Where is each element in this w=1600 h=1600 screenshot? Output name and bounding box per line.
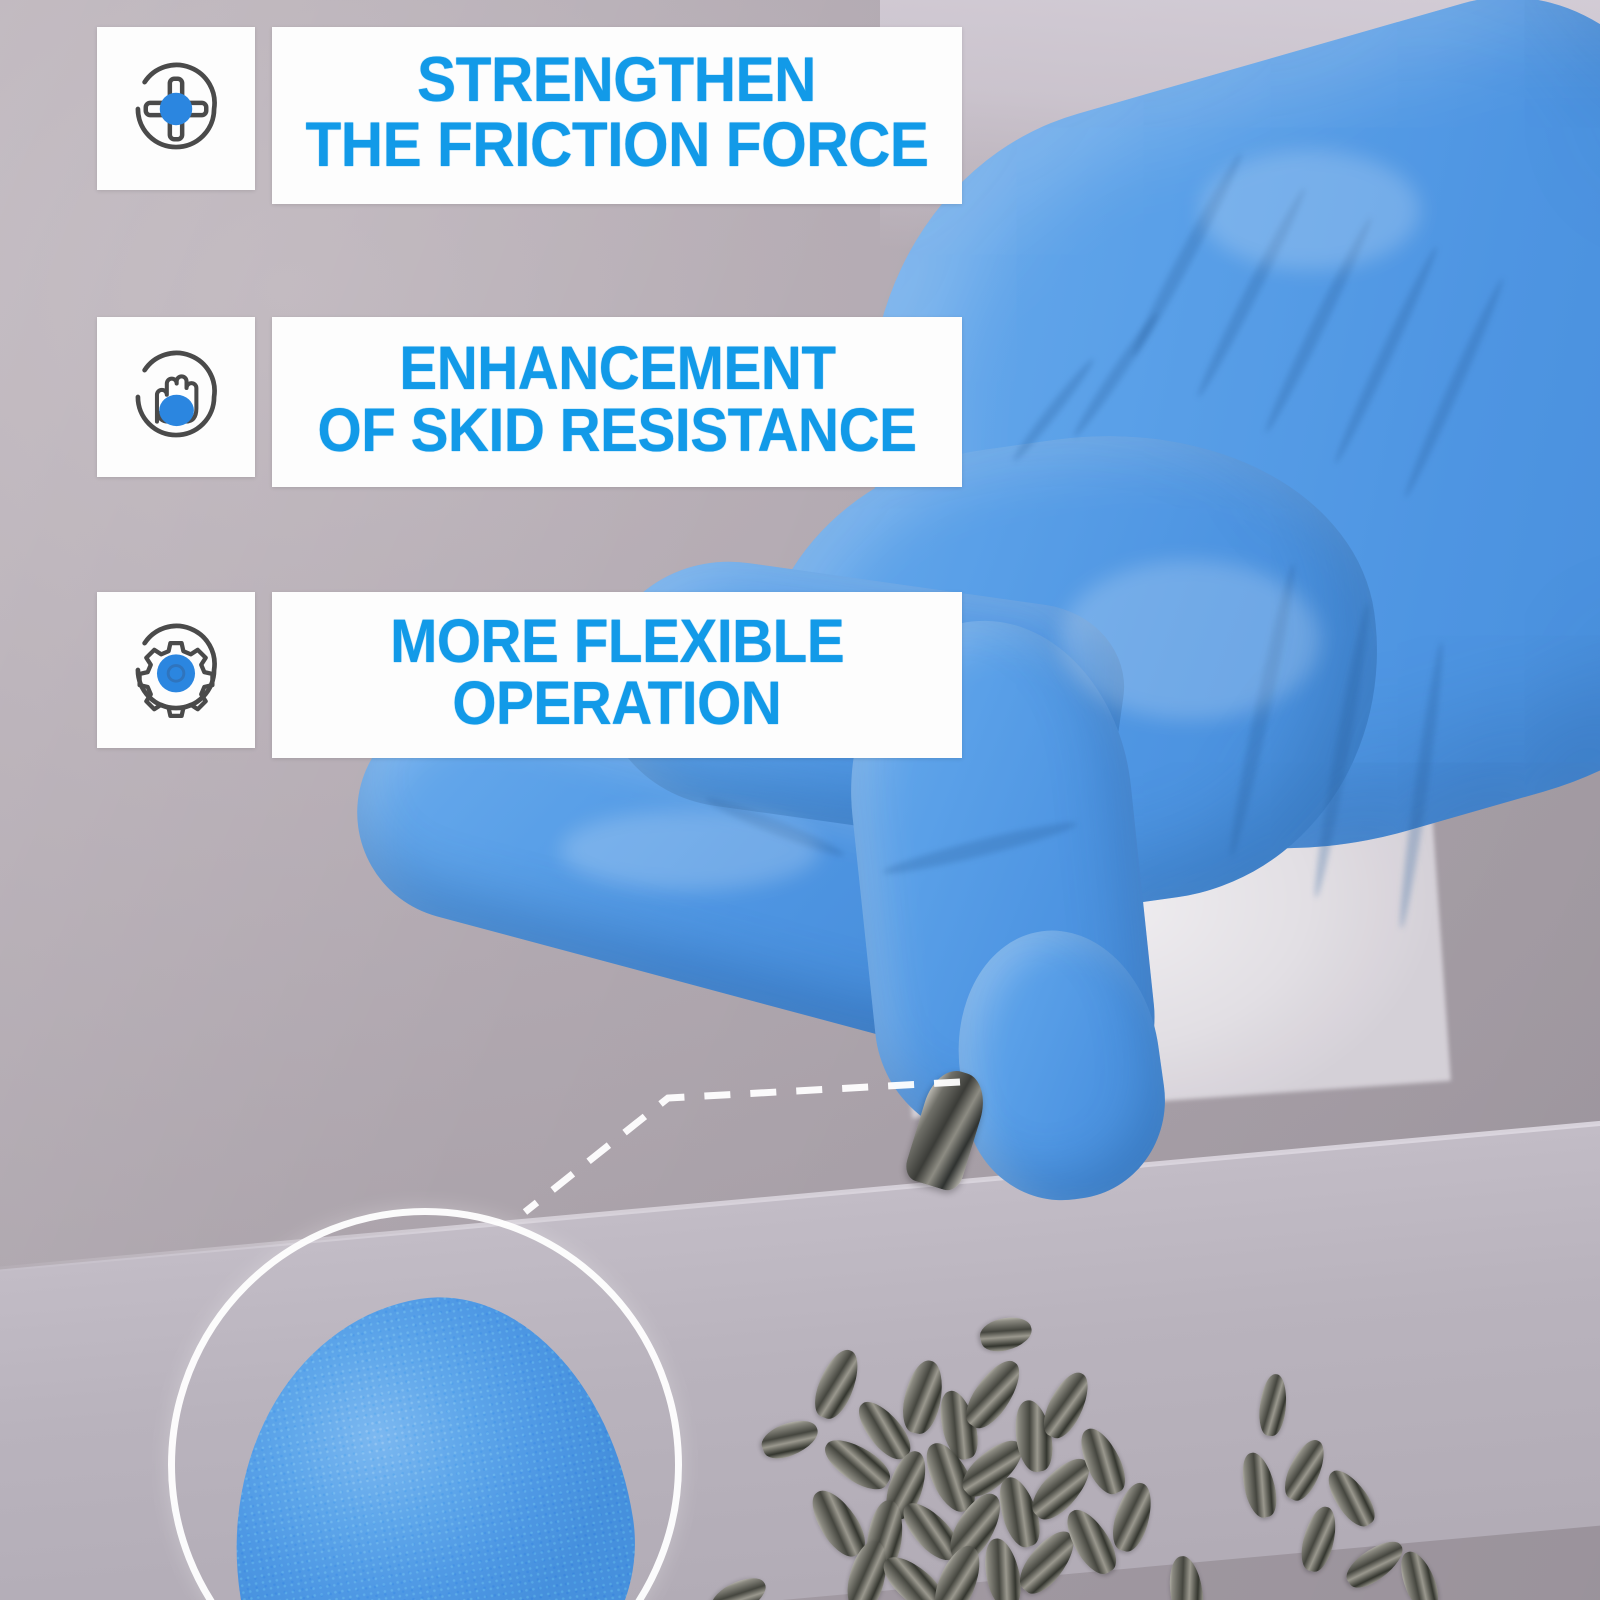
feature-3-line-1: MORE FLEXIBLE [390,610,844,672]
crosshair-grip-icon [120,53,232,165]
feature-1-text-box: STRENGTHEN THE FRICTION FORCE [272,27,962,204]
feature-3-text-box: MORE FLEXIBLE OPERATION [272,592,962,758]
open-hand-icon [120,341,232,453]
feature-1-icon-box [97,27,255,190]
feature-2-line-2: OF SKID RESISTANCE [318,399,917,461]
feature-2-line-1: ENHANCEMENT [399,337,835,399]
feature-2-text-box: ENHANCEMENT OF SKID RESISTANCE [272,317,962,487]
feature-3-line-2: OPERATION [453,672,782,734]
sunflower-seed-pile [700,1300,1600,1600]
product-feature-image: STRENGTHEN THE FRICTION FORCE ENHANCEMEN… [0,0,1600,1600]
feature-row-1: STRENGTHEN THE FRICTION FORCE [97,27,962,204]
feature-1-line-2: THE FRICTION FORCE [305,113,928,177]
feature-3-icon-box [97,592,255,748]
dashed-leader-line [525,1082,960,1212]
feature-2-icon-box [97,317,255,477]
feature-row-3: MORE FLEXIBLE OPERATION [97,592,962,758]
gear-icon [120,614,232,726]
feature-row-2: ENHANCEMENT OF SKID RESISTANCE [97,317,962,487]
feature-1-line-1: STRENGTHEN [418,48,817,112]
